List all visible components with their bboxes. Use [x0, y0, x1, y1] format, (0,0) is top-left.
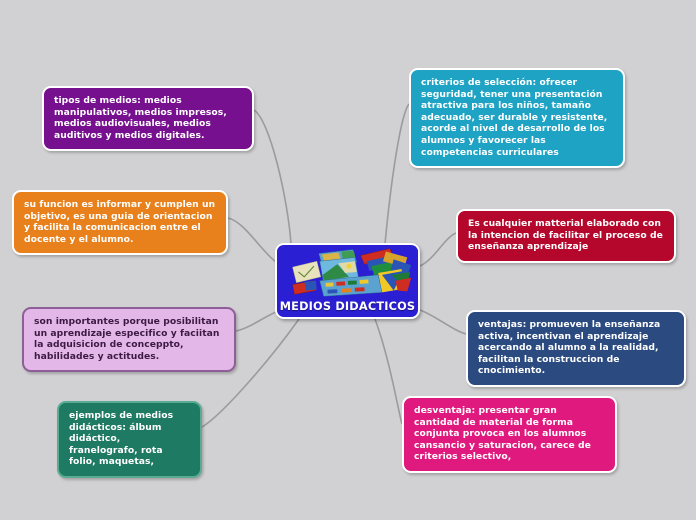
- node-ejemplos[interactable]: ejemplos de medios didácticos: álbum did…: [57, 401, 202, 478]
- node-tipos-de-medios[interactable]: tipos de medios: medios manipulativos, m…: [42, 86, 254, 151]
- connector-to-desventaja: [375, 319, 402, 424]
- node-importancia[interactable]: son importantes porque posibilitan un ap…: [22, 307, 236, 372]
- node-ventajas[interactable]: ventajas: promueven la enseñanza activa,…: [466, 310, 686, 387]
- node-funcion[interactable]: su funcion es informar y cumplen un obje…: [12, 190, 228, 255]
- connector-to-criterios: [385, 104, 409, 244]
- educational-materials-photo: [277, 245, 418, 297]
- node-definicion[interactable]: Es cualquier matterial elaborado con la …: [456, 209, 676, 263]
- node-criterios-de-seleccion[interactable]: criterios de selección: ofrecer segurida…: [409, 68, 625, 168]
- connector-to-tipos: [254, 110, 291, 244]
- connector-to-importancia: [236, 312, 276, 331]
- connector-to-definicion: [420, 233, 456, 266]
- node-desventaja[interactable]: desventaja: presentar gran cantidad de m…: [402, 396, 617, 473]
- central-node[interactable]: MEDIOS DIDACTICOS: [275, 243, 420, 319]
- central-node-label: MEDIOS DIDACTICOS: [277, 300, 418, 313]
- connector-to-funcion: [228, 218, 276, 262]
- mindmap-canvas: MEDIOS DIDACTICOS tipos de medios: medio…: [0, 0, 696, 520]
- connector-to-ventajas: [420, 310, 466, 334]
